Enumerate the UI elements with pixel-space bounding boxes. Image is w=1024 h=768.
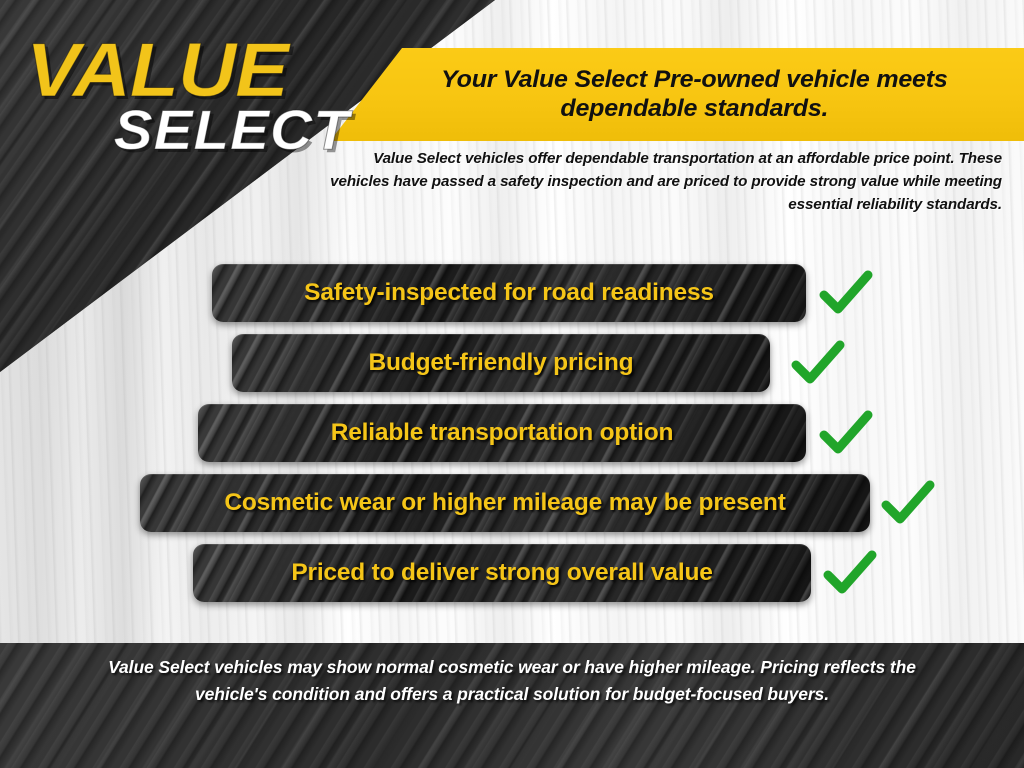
feature-row: Priced to deliver strong overall value [0,538,1024,608]
checkmark-icon [790,339,846,387]
feature-bar: Cosmetic wear or higher mileage may be p… [140,474,870,532]
headline-banner: Your Value Select Pre-owned vehicle meet… [330,48,1024,141]
footer-disclaimer: Value Select vehicles may show normal co… [97,654,927,707]
brand-logo-value: VALUE [26,36,376,106]
feature-label: Safety-inspected for road readiness [290,279,728,307]
checkmark-icon [822,549,878,597]
headline-text: Your Value Select Pre-owned vehicle meet… [323,66,1024,123]
feature-label: Cosmetic wear or higher mileage may be p… [210,489,799,517]
checkmark-icon [818,269,874,317]
feature-row: Safety-inspected for road readiness [0,258,1024,328]
feature-label: Priced to deliver strong overall value [277,559,726,587]
feature-bar: Reliable transportation option [198,404,806,462]
feature-row: Reliable transportation option [0,398,1024,468]
footer-band: Value Select vehicles may show normal co… [0,643,1024,768]
feature-label: Budget-friendly pricing [355,349,648,377]
feature-list: Safety-inspected for road readiness Budg… [0,258,1024,608]
value-select-infographic: VALUE SELECT Your Value Select Pre-owned… [0,0,1024,768]
brand-logo-select: SELECT [13,102,356,158]
feature-label: Reliable transportation option [317,419,687,447]
checkmark-icon [880,479,936,527]
checkmark-icon [818,409,874,457]
brand-logo: VALUE SELECT [26,36,356,158]
feature-bar: Priced to deliver strong overall value [193,544,811,602]
intro-paragraph: Value Select vehicles offer dependable t… [322,147,1002,216]
feature-bar: Budget-friendly pricing [232,334,770,392]
feature-row: Budget-friendly pricing [0,328,1024,398]
feature-bar: Safety-inspected for road readiness [212,264,806,322]
feature-row: Cosmetic wear or higher mileage may be p… [0,468,1024,538]
